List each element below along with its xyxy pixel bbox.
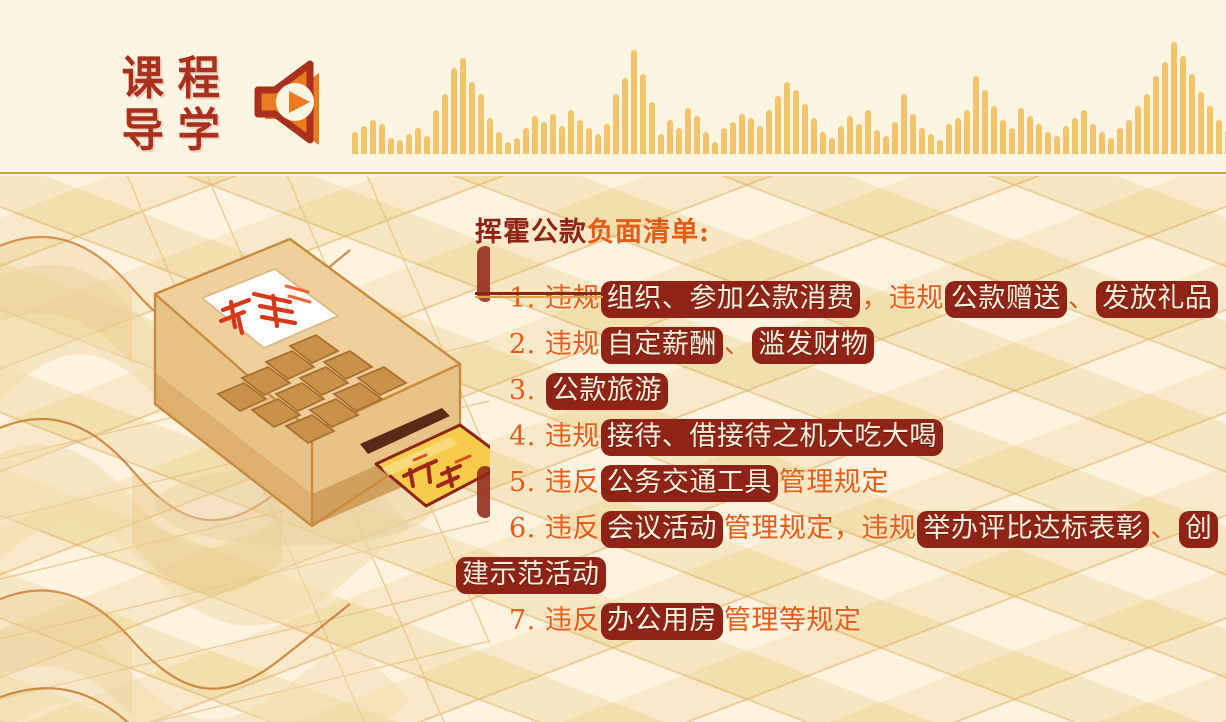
- brand-char-1: 课: [117, 52, 169, 104]
- waveform-bar: [1117, 128, 1123, 154]
- waveform-bar: [559, 126, 565, 154]
- waveform-bar: [1126, 120, 1132, 154]
- waveform-bar: [847, 116, 853, 154]
- waveform-bar: [505, 142, 511, 154]
- waveform-bar: [955, 118, 961, 154]
- pos-terminal-illustration: [0, 176, 490, 722]
- waveform-bar: [586, 128, 592, 154]
- waveform-bar: [352, 132, 358, 154]
- brand-char-2: 程: [173, 52, 225, 104]
- waveform-bar: [1045, 132, 1051, 154]
- waveform-bar: [883, 136, 889, 154]
- waveform-bar: [865, 110, 871, 154]
- waveform-bar: [901, 94, 907, 154]
- waveform-bar: [694, 116, 700, 154]
- waveform-bar: [550, 114, 556, 154]
- waveform-bar: [1036, 124, 1042, 154]
- waveform-bar: [370, 120, 376, 154]
- list-item-number: 6.: [509, 513, 545, 544]
- waveform-bar: [793, 90, 799, 154]
- page-title-dark: 挥霍公款: [475, 217, 587, 248]
- waveform-bar: [640, 74, 646, 154]
- waveform-bar: [712, 142, 718, 154]
- waveform-bar: [1162, 62, 1168, 154]
- waveform-bar: [595, 134, 601, 154]
- waveform-bar: [415, 128, 421, 154]
- waveform-bar: [532, 116, 538, 154]
- waveform-bar: [757, 126, 763, 154]
- highlight-chip: 滥发财物: [752, 327, 874, 364]
- waveform-bar: [820, 132, 826, 154]
- waveform-bar: [649, 102, 655, 154]
- waveform-bar: [703, 132, 709, 154]
- waveform-bar: [1180, 56, 1186, 154]
- waveform-bar: [739, 114, 745, 154]
- waveform-bar: [379, 124, 385, 154]
- waveform-bar: [514, 138, 520, 154]
- list-item: 6. 违反会议活动管理规定，违规举办评比达标表彰、创建示范活动: [455, 506, 1225, 598]
- waveform-bar: [802, 104, 808, 154]
- waveform-bar: [928, 134, 934, 154]
- waveform-bar: [775, 96, 781, 154]
- waveform-bar: [1090, 124, 1096, 154]
- content-area: 挥霍公款负面清单: 1. 违规组织、参加公款消费，违规公款赠送、发放礼品2. 违…: [0, 176, 1226, 722]
- waveform-bar: [577, 120, 583, 154]
- brand-logo: 课 程 导 学: [117, 52, 229, 164]
- list-item: 4. 违规接待、借接待之机大吃大喝: [455, 414, 1225, 460]
- waveform-bar: [856, 124, 862, 154]
- waveform-bar: [991, 106, 997, 154]
- waveform-bar: [784, 82, 790, 154]
- header-divider: [0, 172, 1226, 174]
- waveform-bar: [424, 136, 430, 154]
- waveform-bar: [1216, 120, 1222, 154]
- list-item: 3. 公款旅游: [455, 368, 1225, 414]
- waveform-bar: [730, 122, 736, 154]
- waveform-bar: [1009, 128, 1015, 154]
- plain-text: 违规: [545, 283, 600, 314]
- waveform-bar: [451, 68, 457, 154]
- waveform-bar: [523, 128, 529, 154]
- waveform-bar: [469, 82, 475, 154]
- waveform-bar: [811, 118, 817, 154]
- megaphone-icon: [248, 56, 340, 152]
- waveform-bar: [1063, 126, 1069, 154]
- audio-waveform: [352, 24, 1152, 154]
- underline-secondary: [475, 296, 603, 298]
- waveform-bar: [874, 130, 880, 154]
- waveform-bar: [982, 90, 988, 154]
- waveform-bar: [721, 128, 727, 154]
- brand-char-3: 导: [117, 104, 169, 156]
- waveform-bar: [1108, 138, 1114, 154]
- waveform-bar: [667, 120, 673, 154]
- waveform-bar: [685, 108, 691, 154]
- waveform-bar: [361, 126, 367, 154]
- waveform-bar: [964, 110, 970, 154]
- header-bar: 课 程 导 学: [0, 0, 1226, 174]
- waveform-bar: [442, 94, 448, 154]
- highlight-chip: 举办评比达标表彰: [917, 511, 1149, 548]
- text-block: 挥霍公款负面清单: 1. 违规组织、参加公款消费，违规公款赠送、发放礼品2. 违…: [455, 216, 1225, 644]
- list-item-number: 5.: [509, 467, 545, 498]
- plain-text: 管理规定: [779, 467, 889, 498]
- waveform-bar: [1189, 74, 1195, 154]
- page-title: 挥霍公款负面清单:: [475, 216, 710, 250]
- waveform-bar: [487, 118, 493, 154]
- list-item: 7. 违反办公用房管理等规定: [455, 598, 1225, 644]
- waveform-bar: [433, 110, 439, 154]
- plain-text: 违反: [545, 513, 600, 544]
- waveform-bar: [1000, 120, 1006, 154]
- waveform-bar: [946, 124, 952, 154]
- plain-text: 违规: [545, 421, 600, 452]
- page-title-underline: [475, 292, 603, 298]
- waveform-bar: [1072, 118, 1078, 154]
- brand-row-2: 导 学: [117, 104, 229, 156]
- list-item-number: 1.: [509, 283, 545, 314]
- highlight-chip: 公款赠送: [945, 281, 1067, 318]
- brand-row-1: 课 程: [117, 52, 229, 104]
- plain-text: 违反: [545, 605, 600, 636]
- waveform-bar: [919, 128, 925, 154]
- plain-text: 、: [1150, 513, 1178, 544]
- waveform-bar: [1153, 76, 1159, 154]
- highlight-chip: 办公用房: [601, 603, 723, 640]
- plain-text: 、: [1068, 283, 1096, 314]
- waveform-bar: [1144, 94, 1150, 154]
- waveform-bar: [622, 78, 628, 154]
- waveform-bar: [1018, 108, 1024, 154]
- waveform-bar: [676, 128, 682, 154]
- waveform-bar: [397, 140, 403, 154]
- page-title-warm: 负面清单:: [587, 217, 710, 248]
- waveform-bar: [892, 122, 898, 154]
- waveform-bar: [1135, 106, 1141, 154]
- poster-root: 课 程 导 学: [0, 0, 1226, 722]
- waveform-bar: [388, 138, 394, 154]
- list-item: 2. 违规自定薪酬、滥发财物: [455, 322, 1225, 368]
- waveform-bar: [478, 94, 484, 154]
- waveform-bar: [658, 134, 664, 154]
- waveform-bar: [460, 58, 466, 154]
- waveform-bar: [541, 122, 547, 154]
- plain-text: 违反: [545, 467, 600, 498]
- waveform-bar: [1027, 116, 1033, 154]
- highlight-chip: 会议活动: [601, 511, 723, 548]
- list-item-number: 4.: [509, 421, 545, 452]
- waveform-bar: [748, 118, 754, 154]
- plain-text: 管理规定，违规: [724, 513, 917, 544]
- list-item-number: 2.: [509, 329, 545, 360]
- waveform-bar: [910, 114, 916, 154]
- highlight-chip: 接待、借接待之机大吃大喝: [601, 419, 943, 456]
- waveform-bar: [604, 124, 610, 154]
- highlight-chip: 公款旅游: [546, 373, 668, 410]
- waveform-bar: [838, 126, 844, 154]
- highlight-chip: 发放礼品: [1096, 281, 1218, 318]
- plain-text: 管理等规定: [724, 605, 862, 636]
- negative-list: 1. 违规组织、参加公款消费，违规公款赠送、发放礼品2. 违规自定薪酬、滥发财物…: [455, 276, 1225, 644]
- list-item-number: 7.: [509, 605, 545, 636]
- underline-primary: [475, 292, 603, 295]
- waveform-bar: [568, 110, 574, 154]
- waveform-bar: [1099, 132, 1105, 154]
- waveform-bar: [613, 94, 619, 154]
- waveform-bar: [829, 138, 835, 154]
- waveform-bar: [937, 140, 943, 154]
- highlight-chip: 自定薪酬: [601, 327, 723, 364]
- waveform-bar: [496, 132, 502, 154]
- waveform-bar: [631, 50, 637, 154]
- waveform-bar: [406, 134, 412, 154]
- highlight-chip: 公务交通工具: [601, 465, 778, 502]
- plain-text: 违规: [545, 329, 600, 360]
- waveform-bar: [1054, 136, 1060, 154]
- list-item-number: 3.: [509, 375, 545, 406]
- highlight-chip: 组织、参加公款消费: [601, 281, 861, 318]
- waveform-bar: [973, 76, 979, 154]
- waveform-bar: [1171, 42, 1177, 154]
- waveform-bar: [1198, 92, 1204, 154]
- waveform-bar: [766, 110, 772, 154]
- list-item: 5. 违反公务交通工具管理规定: [455, 460, 1225, 506]
- waveform-bar: [1081, 110, 1087, 154]
- list-item: 1. 违规组织、参加公款消费，违规公款赠送、发放礼品: [455, 276, 1225, 322]
- plain-text: 、: [724, 329, 752, 360]
- brand-char-4: 学: [173, 104, 225, 156]
- waveform-bar: [1207, 106, 1213, 154]
- plain-text: ，违规: [861, 283, 944, 314]
